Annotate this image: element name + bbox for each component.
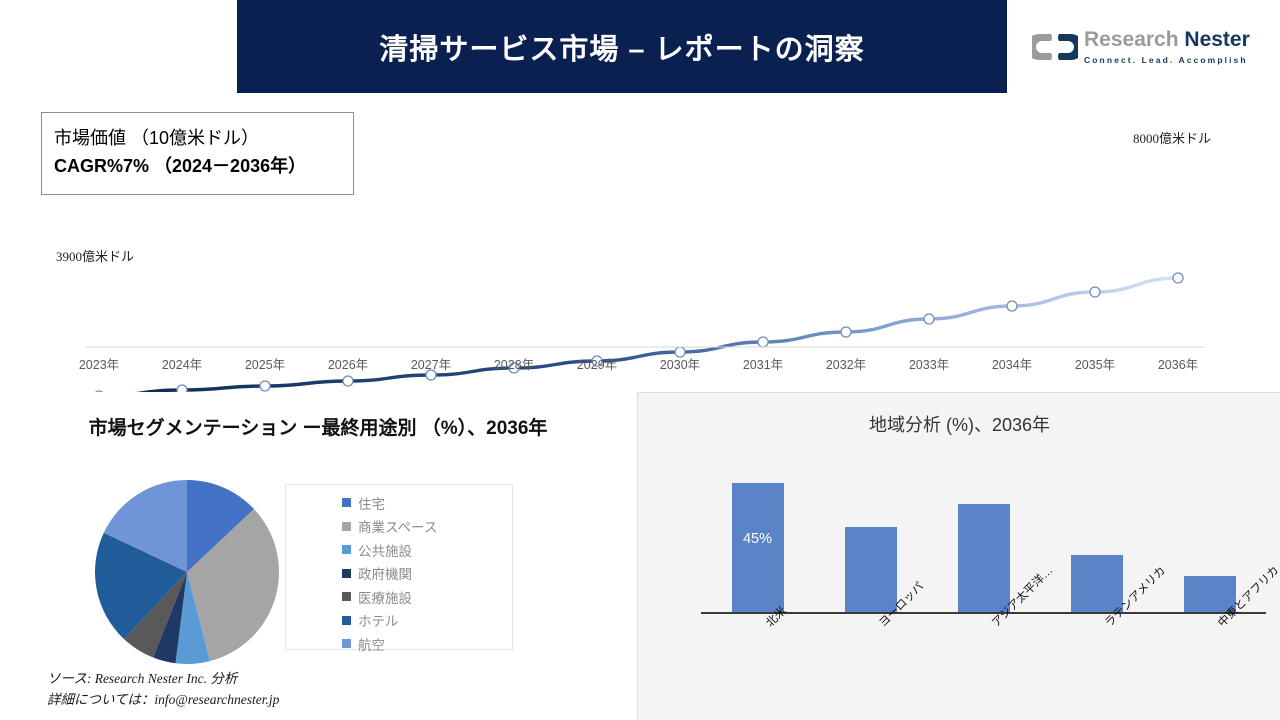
- segmentation-title: 市場セグメンテーション ー最終用途別 （%）、2036年: [18, 414, 618, 443]
- legend-swatch-icon: [342, 498, 351, 507]
- header: 清掃サービス市場 – レポートの洞察 Research Nester Conne…: [0, 0, 1280, 96]
- legend-swatch-icon: [342, 639, 351, 648]
- regional-analysis-title: 地域分析 (%)、2036年: [638, 411, 1280, 437]
- source-line-2: 詳細については：info@researchnester.jp: [47, 690, 279, 711]
- line-x-tick-label: 2034年: [972, 354, 1052, 373]
- source-line-1: ソース: Research Nester Inc. 分析: [47, 669, 279, 690]
- legend-item-label: 航空: [358, 634, 385, 654]
- line-x-tick-label: 2024年: [142, 354, 222, 373]
- title-banner: 清掃サービス市場 – レポートの洞察: [237, 0, 1007, 93]
- line-x-tick-label: 2031年: [723, 354, 803, 373]
- line-x-tick-label: 2025年: [225, 354, 305, 373]
- legend-swatch-icon: [342, 616, 351, 625]
- line-x-tick-label: 2029年: [557, 354, 637, 373]
- bottom-section: 市場セグメンテーション ー最終用途別 （%）、2036年 住宅商業スペース公共施…: [0, 392, 1280, 720]
- line-chart-svg: [0, 96, 1280, 392]
- line-data-point[interactable]: [1007, 301, 1017, 311]
- legend-item-label: 政府機関: [358, 563, 412, 583]
- legend-item[interactable]: ホテル: [342, 609, 512, 633]
- legend-item-label: 住宅: [358, 493, 385, 513]
- bar-column[interactable]: 45%: [732, 483, 784, 613]
- legend-item-label: ホテル: [358, 610, 399, 630]
- line-data-point[interactable]: [924, 314, 934, 324]
- line-chart-x-axis: 2023年2024年2025年2026年2027年2028年2029年2030年…: [0, 354, 1280, 384]
- logo-tagline: Connect. Lead. Accomplish: [1084, 55, 1250, 65]
- line-data-point[interactable]: [1173, 273, 1183, 283]
- bar-value-label: 45%: [732, 531, 784, 547]
- legend-item[interactable]: 公共施設: [342, 538, 512, 562]
- legend-item[interactable]: 政府機関: [342, 562, 512, 586]
- line-x-tick-label: 2027年: [391, 354, 471, 373]
- logo-word-nester: Nester: [1184, 28, 1249, 51]
- segmentation-pie-chart: [92, 477, 282, 667]
- legend-item-label: 商業スペース: [358, 516, 437, 536]
- segmentation-legend: 住宅商業スペース公共施設政府機関医療施設ホテル航空: [285, 484, 513, 650]
- legend-item[interactable]: 商業スペース: [342, 515, 512, 539]
- legend-item[interactable]: 医療施設: [342, 585, 512, 609]
- legend-swatch-icon: [342, 545, 351, 554]
- legend-swatch-icon: [342, 522, 351, 531]
- line-x-tick-label: 2028年: [474, 354, 554, 373]
- logo-wordmark: Research Nester: [1084, 29, 1250, 51]
- pie-slices: [95, 480, 279, 664]
- line-x-tick-label: 2023年: [59, 354, 139, 373]
- pie-svg: [92, 477, 282, 667]
- legend-item[interactable]: 住宅: [342, 491, 512, 515]
- line-data-point[interactable]: [1090, 287, 1100, 297]
- line-x-tick-label: 2032年: [806, 354, 886, 373]
- bar-column[interactable]: [845, 527, 897, 613]
- market-value-line-chart: 3900億米ドル 8000億米ドル 2023年2024年2025年2026年20…: [0, 96, 1280, 392]
- line-x-tick-label: 2033年: [889, 354, 969, 373]
- source-note: ソース: Research Nester Inc. 分析 詳細については：inf…: [47, 669, 279, 711]
- segmentation-panel: 市場セグメンテーション ー最終用途別 （%）、2036年 住宅商業スペース公共施…: [0, 392, 637, 720]
- legend-swatch-icon: [342, 569, 351, 578]
- line-x-tick-label: 2036年: [1138, 354, 1218, 373]
- line-data-point[interactable]: [841, 327, 851, 337]
- line-x-tick-label: 2030年: [640, 354, 720, 373]
- line-data-point[interactable]: [177, 385, 187, 392]
- legend-item-label: 医療施設: [358, 587, 412, 607]
- line-end-value-label: 8000億米ドル: [1133, 128, 1211, 147]
- legend-item-label: 公共施設: [358, 540, 412, 560]
- page-title: 清掃サービス市場 – レポートの洞察: [379, 26, 864, 68]
- legend-item[interactable]: 航空: [342, 632, 512, 656]
- logo-text: Research Nester Connect. Lead. Accomplis…: [1084, 29, 1250, 64]
- regional-bar-chart: 45%: [701, 469, 1266, 613]
- company-logo: Research Nester Connect. Lead. Accomplis…: [1032, 20, 1262, 74]
- regional-analysis-panel: 地域分析 (%)、2036年 45% 北米ヨーロッパアジア太平洋…ラテンアメリカ…: [637, 392, 1280, 720]
- bar-column[interactable]: [958, 504, 1010, 613]
- link-chain-icon: [1032, 30, 1078, 64]
- legend-swatch-icon: [342, 592, 351, 601]
- line-start-value-label: 3900億米ドル: [56, 246, 134, 265]
- logo-word-research: Research: [1084, 28, 1184, 51]
- line-x-tick-label: 2026年: [308, 354, 388, 373]
- line-data-point[interactable]: [758, 337, 768, 347]
- line-x-tick-label: 2035年: [1055, 354, 1135, 373]
